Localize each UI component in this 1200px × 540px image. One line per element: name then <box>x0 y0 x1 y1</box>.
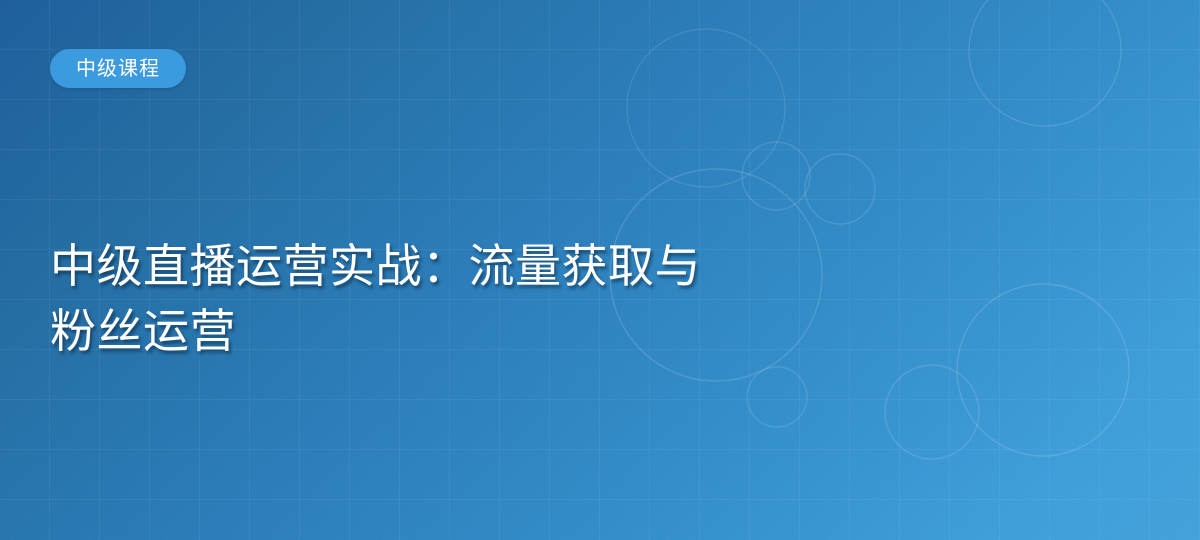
course-level-badge: 中级课程 <box>50 49 186 88</box>
banner-content: 中级课程 中级直播运营实战：流量获取与 粉丝运营 <box>0 0 1200 540</box>
course-title: 中级直播运营实战：流量获取与 粉丝运营 <box>50 234 870 364</box>
course-hero-banner: 中级课程 中级直播运营实战：流量获取与 粉丝运营 <box>0 0 1200 540</box>
